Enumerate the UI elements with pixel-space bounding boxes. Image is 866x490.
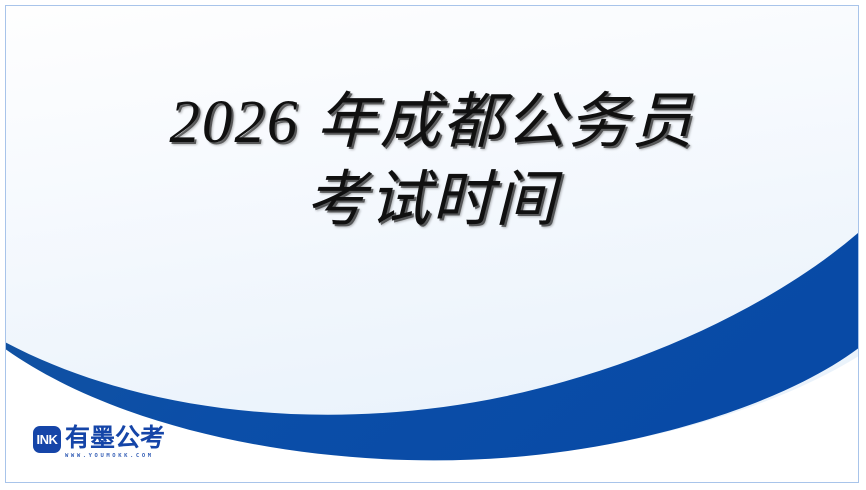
banner-frame: 2026 年成都公务员 考试时间 INK 有墨公考 WWW.YOUMOKK.CO…: [5, 5, 859, 483]
ink-badge-icon: INK: [33, 426, 61, 453]
logo-text-group: 有墨公考 WWW.YOUMOKK.COM: [65, 425, 165, 460]
background-artwork: [6, 6, 858, 482]
brand-name: 有墨公考: [65, 425, 165, 451]
banner-canvas: 2026 年成都公务员 考试时间 INK 有墨公考 WWW.YOUMOKK.CO…: [0, 0, 866, 490]
brand-url: WWW.YOUMOKK.COM: [65, 452, 154, 460]
brand-logo[interactable]: INK 有墨公考 WWW.YOUMOKK.COM: [33, 425, 165, 460]
